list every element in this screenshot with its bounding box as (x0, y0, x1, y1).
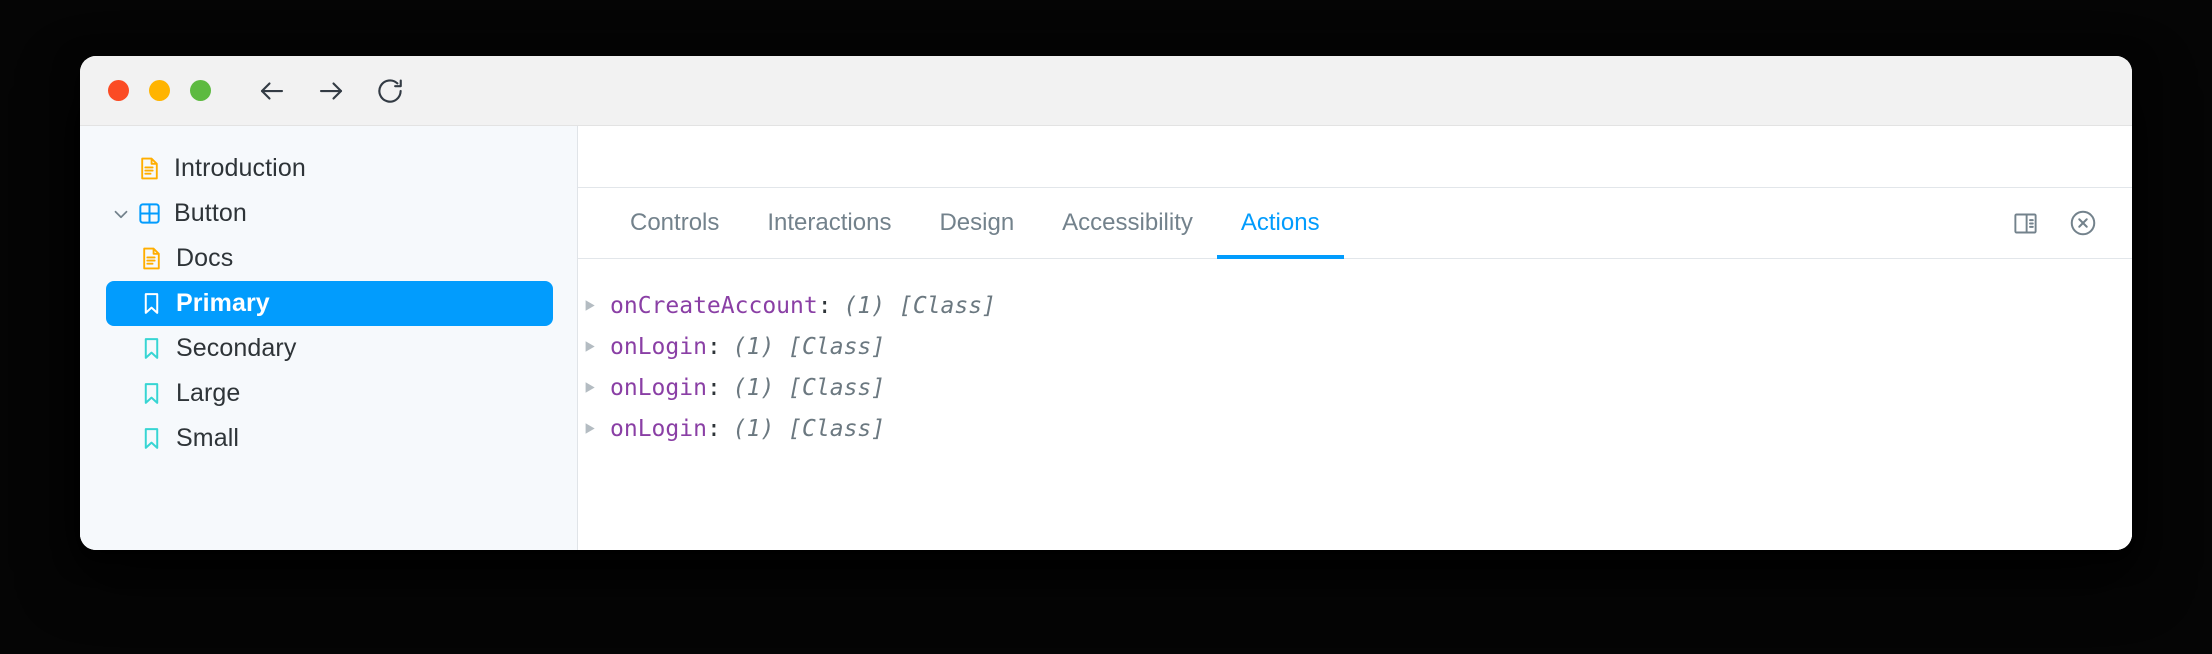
sidebar-item-label: Introduction (174, 154, 306, 183)
sidebar-item-label: Secondary (176, 334, 296, 363)
tab-label: Accessibility (1062, 209, 1193, 237)
sidebar-item-label: Docs (176, 244, 233, 273)
sidebar-item-primary[interactable]: Primary (106, 281, 553, 326)
action-colon: : (707, 416, 721, 442)
traffic-lights (108, 80, 211, 101)
component-icon (134, 201, 165, 226)
tab-label: Design (939, 209, 1014, 237)
tab-controls[interactable]: Controls (606, 188, 743, 259)
sidebar-item-large[interactable]: Large (106, 371, 553, 416)
chevron-down-icon[interactable] (108, 203, 134, 225)
minimize-window-button[interactable] (149, 80, 170, 101)
tab-label: Interactions (767, 209, 891, 237)
sidebar-item-label: Primary (176, 289, 270, 318)
action-meta: (1) [Class] (733, 416, 885, 442)
action-log-content: onLogin: (1) [Class] (610, 334, 885, 360)
browser-window: Introduction (80, 56, 2132, 550)
action-log-row[interactable]: onCreateAccount: (1) [Class] (578, 285, 2132, 326)
panel-position-icon[interactable] (2002, 200, 2048, 246)
action-name: onLogin (610, 375, 707, 401)
action-colon: : (818, 293, 832, 319)
sidebar-item-label: Large (176, 379, 240, 408)
document-icon (136, 246, 167, 271)
action-log-row[interactable]: onLogin: (1) [Class] (578, 326, 2132, 367)
document-icon (134, 156, 165, 181)
action-meta: (1) [Class] (844, 293, 996, 319)
tab-label: Controls (630, 209, 719, 237)
bookmark-icon (136, 426, 167, 451)
browser-nav-buttons (257, 76, 405, 106)
sidebar-item-label: Small (176, 424, 239, 453)
forward-icon[interactable] (316, 76, 346, 106)
close-panel-icon[interactable] (2060, 200, 2106, 246)
screen: Introduction (0, 0, 2212, 654)
reload-icon[interactable] (375, 76, 405, 106)
tab-label: Actions (1241, 209, 1320, 237)
tab-design[interactable]: Design (915, 188, 1038, 259)
story-preview-area (578, 126, 2132, 188)
action-log-content: onLogin: (1) [Class] (610, 416, 885, 442)
close-window-button[interactable] (108, 80, 129, 101)
action-name: onCreateAccount (610, 293, 818, 319)
action-name: onLogin (610, 334, 707, 360)
action-colon: : (707, 334, 721, 360)
expand-arrow-icon[interactable] (578, 422, 600, 435)
storybook-sidebar: Introduction (80, 126, 578, 550)
action-log-content: onLogin: (1) [Class] (610, 375, 885, 401)
maximize-window-button[interactable] (190, 80, 211, 101)
action-meta: (1) [Class] (733, 334, 885, 360)
sidebar-item-small[interactable]: Small (106, 416, 553, 461)
action-log-row[interactable]: onLogin: (1) [Class] (578, 367, 2132, 408)
back-icon[interactable] (257, 76, 287, 106)
expand-arrow-icon[interactable] (578, 299, 600, 312)
expand-arrow-icon[interactable] (578, 381, 600, 394)
sidebar-item-label: Button (174, 199, 247, 228)
tab-actions[interactable]: Actions (1217, 188, 1344, 259)
storybook-body: Introduction (80, 126, 2132, 550)
action-log-content: onCreateAccount: (1) [Class] (610, 293, 996, 319)
action-meta: (1) [Class] (733, 375, 885, 401)
action-name: onLogin (610, 416, 707, 442)
addon-panel: Controls Interactions Design Accessibili… (578, 188, 2132, 550)
bookmark-icon (136, 336, 167, 361)
action-colon: : (707, 375, 721, 401)
tab-interactions[interactable]: Interactions (743, 188, 915, 259)
browser-titlebar (80, 56, 2132, 126)
action-log-row[interactable]: onLogin: (1) [Class] (578, 408, 2132, 449)
sidebar-item-secondary[interactable]: Secondary (106, 326, 553, 371)
storybook-main: Controls Interactions Design Accessibili… (578, 126, 2132, 550)
actions-log: onCreateAccount: (1) [Class] onLogin: (1… (578, 259, 2132, 550)
bookmark-icon (136, 381, 167, 406)
sidebar-item-docs[interactable]: Docs (106, 236, 553, 281)
tab-accessibility[interactable]: Accessibility (1038, 188, 1217, 259)
expand-arrow-icon[interactable] (578, 340, 600, 353)
bookmark-icon (136, 291, 167, 316)
sidebar-item-button[interactable]: Button (104, 191, 553, 236)
sidebar-item-introduction[interactable]: Introduction (104, 146, 553, 191)
addon-tabbar: Controls Interactions Design Accessibili… (578, 188, 2132, 259)
